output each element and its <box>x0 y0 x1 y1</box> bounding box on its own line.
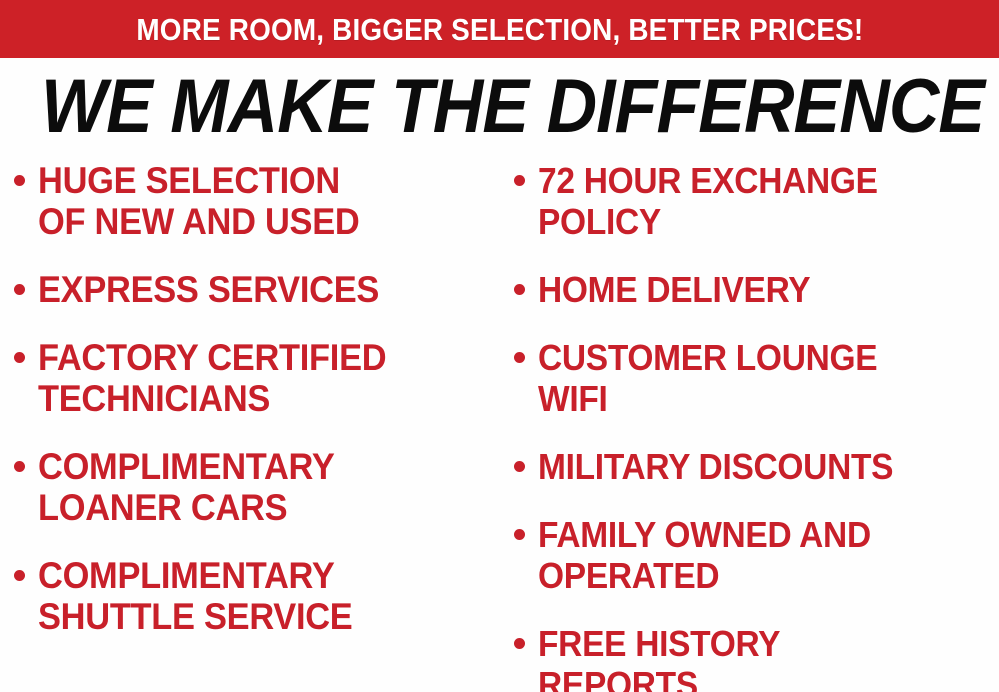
bullet-dot-icon <box>514 461 525 472</box>
bullet-dot-icon <box>514 175 525 186</box>
list-item-label: FREE HISTORY REPORTS <box>538 623 780 692</box>
list-item-label: FACTORY CERTIFIED TECHNICIANS <box>38 337 386 419</box>
main-headline: WE MAKE THE DIFFERENCE <box>0 68 999 146</box>
list-item: FREE HISTORY REPORTS <box>514 623 999 692</box>
list-item-label: 72 HOUR EXCHANGE POLICY <box>538 160 878 242</box>
list-item: FACTORY CERTIFIED TECHNICIANS <box>14 337 514 419</box>
list-item: EXPRESS SERVICES <box>14 269 514 310</box>
list-item-label: HOME DELIVERY <box>538 269 810 310</box>
bullet-dot-icon <box>514 638 525 649</box>
features-column-right: 72 HOUR EXCHANGE POLICY HOME DELIVERY CU… <box>514 160 999 692</box>
list-item: COMPLIMENTARY SHUTTLE SERVICE <box>14 555 514 637</box>
main-headline-text: WE MAKE THE DIFFERENCE <box>41 68 984 146</box>
list-item: HOME DELIVERY <box>514 269 999 310</box>
banner-headline-text: MORE ROOM, BIGGER SELECTION, BETTER PRIC… <box>136 14 863 45</box>
list-item-label: COMPLIMENTARY LOANER CARS <box>38 446 334 528</box>
list-item-label: CUSTOMER LOUNGE WIFI <box>538 337 877 419</box>
list-item-label: HUGE SELECTION OF NEW AND USED <box>38 160 359 242</box>
list-item-label: COMPLIMENTARY SHUTTLE SERVICE <box>38 555 352 637</box>
list-item: CUSTOMER LOUNGE WIFI <box>514 337 999 419</box>
features-column-left: HUGE SELECTION OF NEW AND USED EXPRESS S… <box>14 160 514 664</box>
bullet-dot-icon <box>14 352 25 363</box>
list-item-label: MILITARY DISCOUNTS <box>538 446 893 487</box>
top-banner: MORE ROOM, BIGGER SELECTION, BETTER PRIC… <box>0 0 999 58</box>
list-item: 72 HOUR EXCHANGE POLICY <box>514 160 999 242</box>
list-item: COMPLIMENTARY LOANER CARS <box>14 446 514 528</box>
list-item: FAMILY OWNED AND OPERATED <box>514 514 999 596</box>
bullet-dot-icon <box>14 461 25 472</box>
bullet-dot-icon <box>514 284 525 295</box>
bullet-dot-icon <box>14 570 25 581</box>
list-item-label: FAMILY OWNED AND OPERATED <box>538 514 871 596</box>
bullet-dot-icon <box>514 529 525 540</box>
list-item: HUGE SELECTION OF NEW AND USED <box>14 160 514 242</box>
bullet-dot-icon <box>14 284 25 295</box>
list-item-label: EXPRESS SERVICES <box>38 269 379 310</box>
promotional-poster: MORE ROOM, BIGGER SELECTION, BETTER PRIC… <box>0 0 999 692</box>
bullet-dot-icon <box>514 352 525 363</box>
bullet-dot-icon <box>14 175 25 186</box>
list-item: MILITARY DISCOUNTS <box>514 446 999 487</box>
